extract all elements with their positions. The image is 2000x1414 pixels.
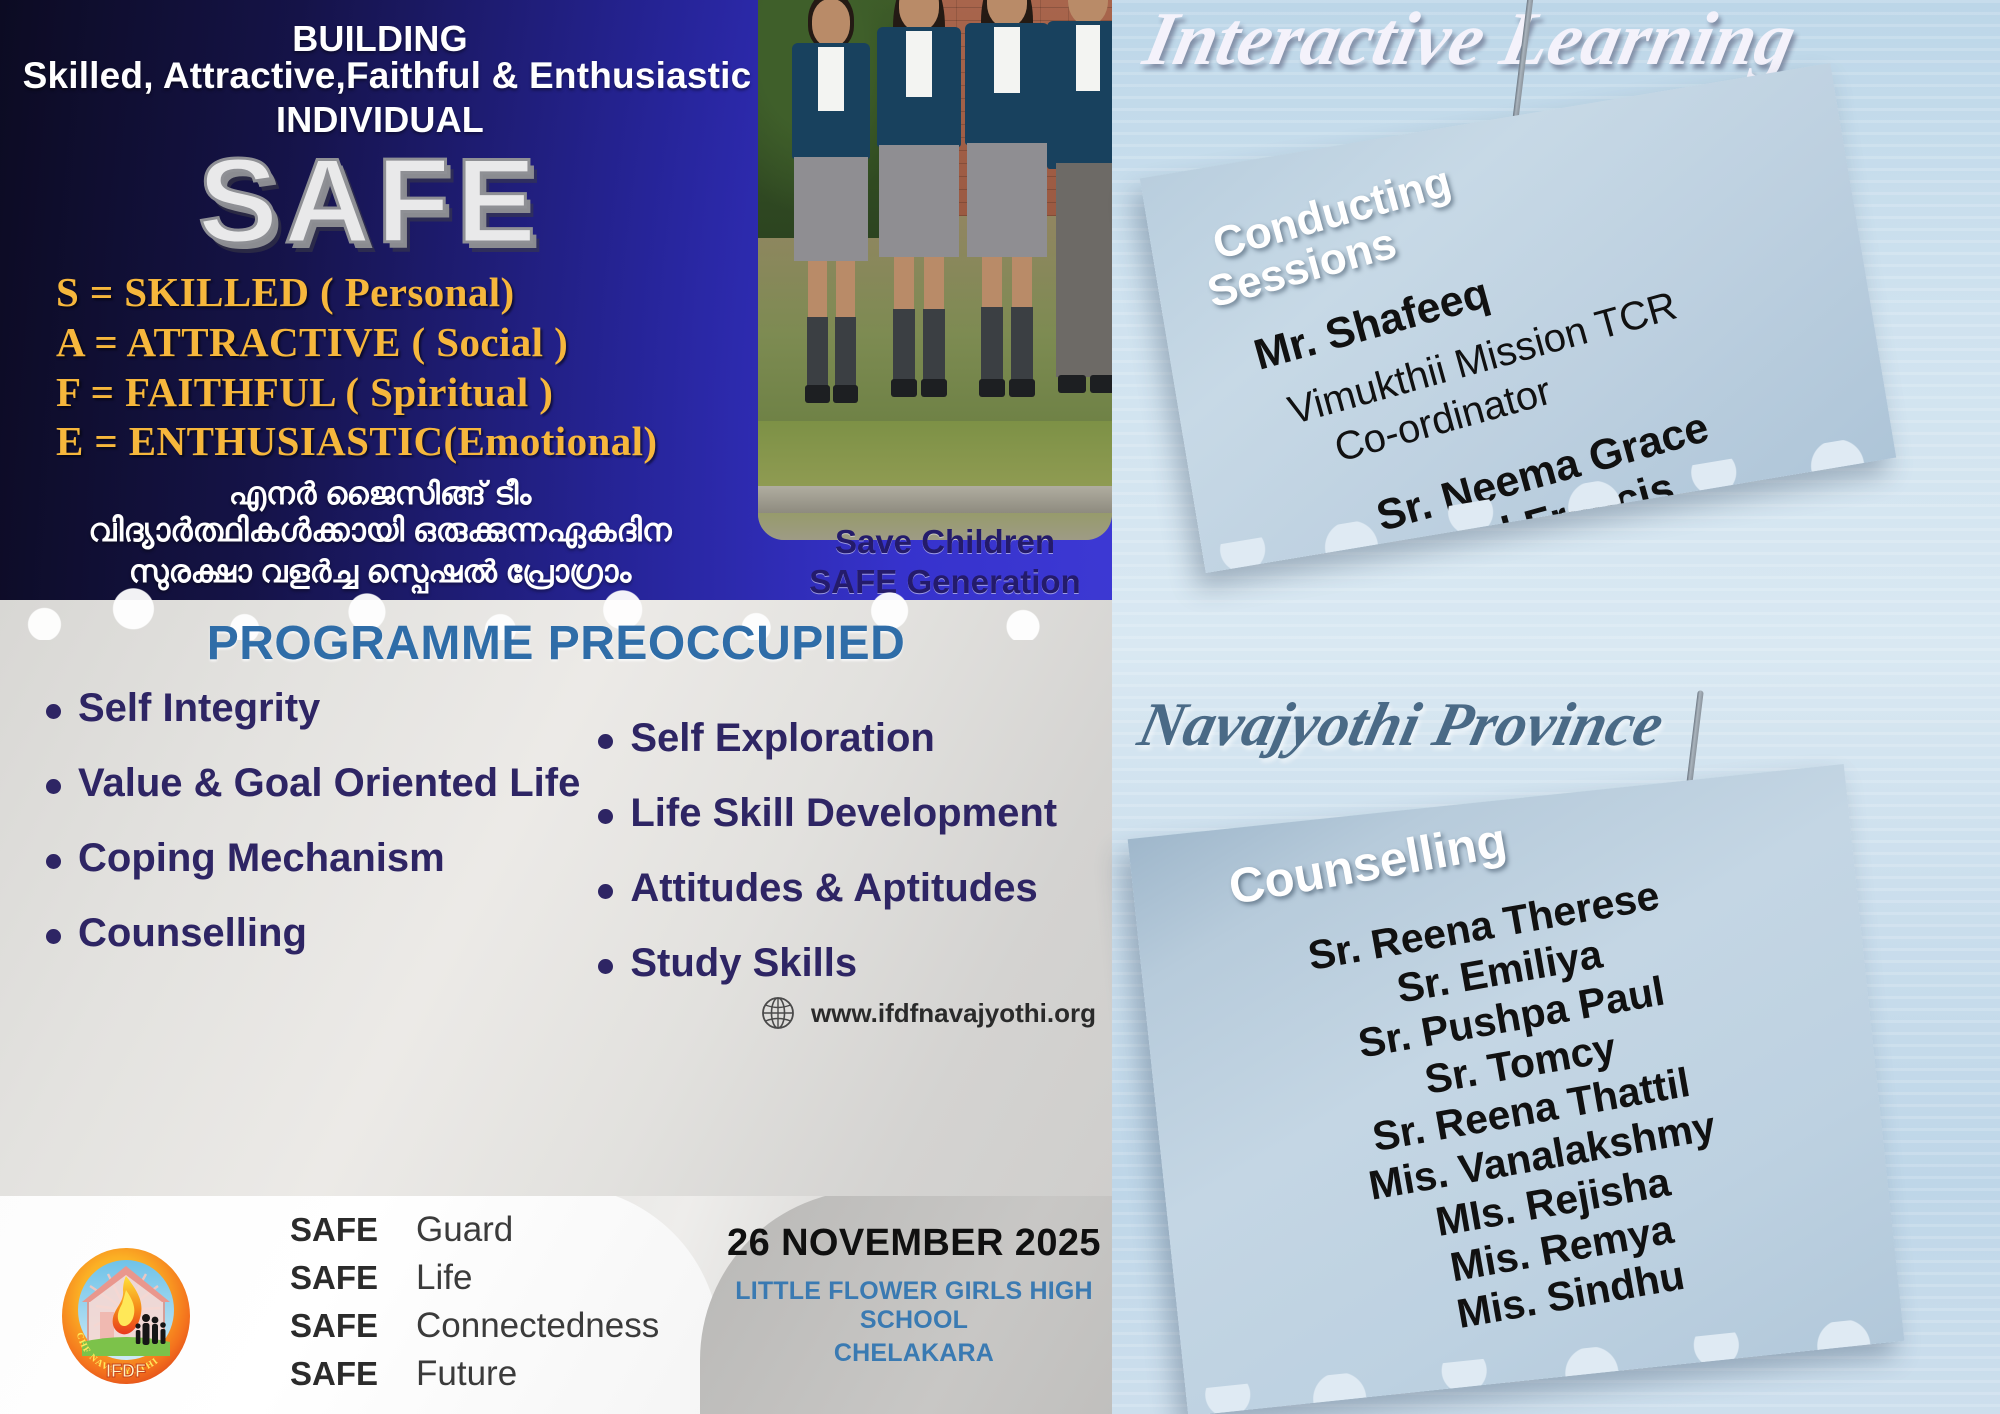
tagline-value: Future [416,1354,517,1394]
acronym-line-skilled: S = SKILLED ( Personal) [56,268,756,316]
list-item: Attitudes & Aptitudes [598,868,1112,908]
acronym-line-enthusiastic: E = ENTHUSIASTIC(Emotional) [56,417,756,465]
list-item-label: Counselling [78,913,307,953]
website-url[interactable]: www.ifdfnavajyothi.org [811,998,1096,1029]
bullet-dot-icon [46,704,61,719]
list-item-label: Study Skills [630,943,857,983]
list-item-label: Attitudes & Aptitudes [630,868,1037,908]
acronym-line-faithful: F = FAITHFUL ( Spiritual ) [56,368,756,416]
tagline-value: Connectedness [416,1306,659,1346]
globe-icon [761,996,795,1030]
hero-blue-panel: BUILDING Skilled, Attractive,Faithful & … [0,0,1112,612]
list-item: SAFE Connectedness [290,1306,659,1346]
safe-wordmark: SAFE [0,132,740,270]
list-item: Study Skills [598,943,1112,983]
bullet-dot-icon [598,809,613,824]
poster-root: BUILDING Skilled, Attractive,Faithful & … [0,0,2000,1414]
tagline-key: SAFE [290,1259,388,1297]
list-item: Coping Mechanism [46,838,580,878]
malayalam-line-2: വിദ്യാർത്ഥികൾക്കായി ഒരുക്കുന്നഏകദിന [0,508,770,553]
event-venue-line-2: CHELAKARA [716,1339,1112,1368]
ifdf-navajyothi-logo: CHF NAVA JYOTHI IFDF [60,1246,192,1386]
list-item: SAFE Future [290,1354,659,1394]
list-item: Counselling [46,913,580,953]
list-item: SAFE Life [290,1258,659,1298]
svg-text:IFDF: IFDF [106,1361,146,1381]
tagline-value: Life [416,1258,472,1298]
list-item: SAFE Guard [290,1210,659,1250]
list-item-label: Value & Goal Oriented Life [78,763,580,803]
event-venue-line-1: LITTLE FLOWER GIRLS HIGH SCHOOL [716,1277,1112,1335]
programme-panel: PROGRAMME PREOCCUPIED Self Integrity Val… [0,600,1112,1200]
bullet-dot-icon [598,884,613,899]
counsellor-list: Sr. Reena Therese Sr. Emiliya Sr. Pushpa… [1148,864,1888,1358]
list-item: Value & Goal Oriented Life [46,763,580,803]
tagline-value: Guard [416,1210,513,1250]
programme-title: PROGRAMME PREOCCUPIED [0,616,1112,671]
list-item-label: Life Skill Development [630,793,1057,833]
bullet-dot-icon [46,929,61,944]
programme-right-column: Self Exploration Life Skill Development … [580,688,1112,1018]
safe-taglines: SAFE Guard SAFE Life SAFE Connectedness … [290,1210,659,1402]
script-heading-interactive-learning: Interactive Learning [1137,0,1804,83]
counselling-note: Counselling Sr. Reena Therese Sr. Emiliy… [1128,764,1905,1414]
list-item: Life Skill Development [598,793,1112,833]
list-item-label: Self Exploration [630,718,935,758]
tagline-key: SAFE [290,1355,388,1393]
note-heading: Counselling [1225,816,1510,914]
bullet-dot-icon [46,854,61,869]
acronym-line-attractive: A = ATTRACTIVE ( Social ) [56,318,756,366]
event-details: 26 NOVEMBER 2025 LITTLE FLOWER GIRLS HIG… [716,1222,1112,1368]
tagline-key: SAFE [290,1307,388,1345]
list-item-label: Coping Mechanism [78,838,445,878]
programme-columns: Self Integrity Value & Goal Oriented Lif… [0,688,1112,1018]
script-heading-navajyothi-province: Navajyothi Province [1132,690,1670,761]
bullet-dot-icon [46,779,61,794]
event-date: 26 NOVEMBER 2025 [716,1222,1112,1265]
bullet-dot-icon [598,959,613,974]
photo-caption-line-1: Save Children [790,522,1100,562]
bullet-dot-icon [598,734,613,749]
list-item-label: Self Integrity [78,688,320,728]
headline-line-2: Skilled, Attractive,Faithful & Enthusias… [0,55,782,97]
list-item: Self Exploration [598,718,1112,758]
list-item: Self Integrity [46,688,580,728]
tagline-key: SAFE [290,1211,388,1249]
headline-line-1: BUILDING [0,18,760,60]
website-row[interactable]: www.ifdfnavajyothi.org [761,996,1096,1030]
programme-left-column: Self Integrity Value & Goal Oriented Lif… [0,688,580,1018]
